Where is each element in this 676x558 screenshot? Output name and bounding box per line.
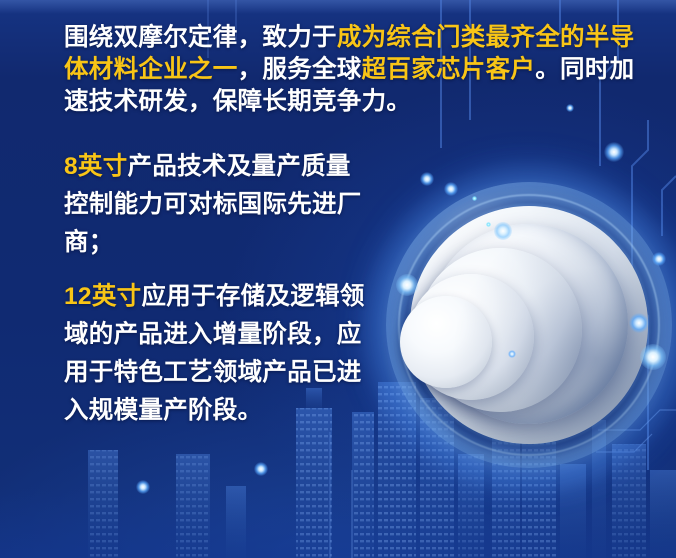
- paragraph-8-inch: 8英寸产品技术及量产质量控制能力可对标国际先进厂商；: [64, 148, 374, 262]
- text-run-2: ，服务全球: [238, 56, 362, 83]
- highlight-run-3: 超百家芯片客户: [362, 56, 536, 83]
- highlight-run-0: 12英寸: [64, 283, 141, 310]
- paragraph-12-inch: 12英寸应用于存储及逻辑领域的产品进入增量阶段，应用于特色工艺领域产品已进入规模…: [64, 278, 376, 430]
- poster-canvas: 围绕双摩尔定律，致力于成为综合门类最齐全的半导体材料企业之一，服务全球超百家芯片…: [0, 0, 676, 558]
- text-run-0: 围绕双摩尔定律，致力于: [64, 24, 337, 51]
- highlight-run-0: 8英寸: [64, 153, 128, 180]
- paragraph-overview: 围绕双摩尔定律，致力于成为综合门类最齐全的半导体材料企业之一，服务全球超百家芯片…: [64, 22, 654, 118]
- text-content-layer: 围绕双摩尔定律，致力于成为综合门类最齐全的半导体材料企业之一，服务全球超百家芯片…: [0, 0, 676, 558]
